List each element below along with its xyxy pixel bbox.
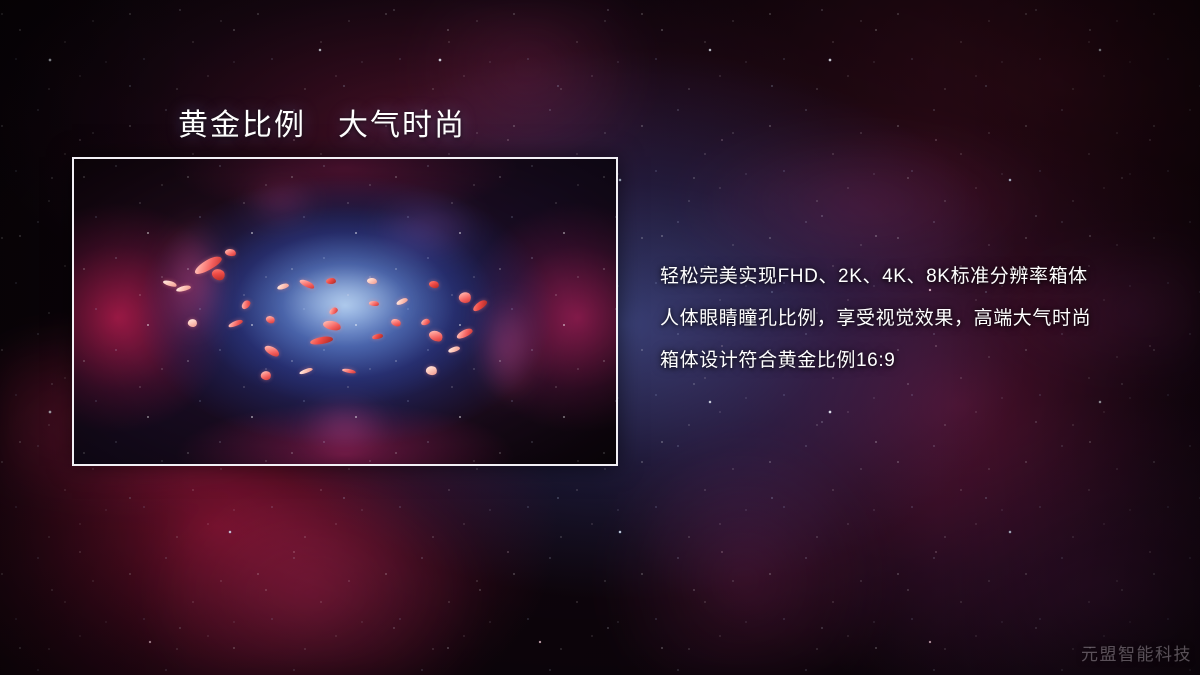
petal-3 [163, 279, 178, 288]
petal-30 [455, 327, 474, 340]
inner-nebula-filaments [74, 159, 616, 464]
petal-13 [366, 277, 377, 285]
petal-4 [176, 284, 192, 292]
petal-10 [277, 283, 290, 291]
petal-11 [298, 278, 315, 291]
petal-18 [260, 370, 272, 381]
petal-8 [228, 318, 244, 327]
petal-7 [187, 318, 199, 329]
petal-1 [193, 253, 224, 276]
petal-19 [299, 367, 314, 375]
petal-2 [210, 266, 227, 282]
petal-16 [309, 336, 332, 346]
body-line-2: 人体眼睛瞳孔比例，享受视觉效果，高端大气时尚 [660, 298, 1160, 340]
inner-starfield-icon [74, 159, 616, 464]
petal-29 [428, 328, 445, 343]
petal-23 [390, 317, 402, 328]
petal-15 [322, 318, 342, 332]
petal-22 [372, 333, 383, 339]
petal-24 [396, 297, 409, 306]
body-text-block: 轻松完美实现FHD、2K、4K、8K标准分辨率箱体 人体眼睛瞳孔比例，享受视觉效… [660, 256, 1160, 382]
petal-6 [240, 298, 253, 310]
presentation-slide: 黄金比例 大气时尚 轻松完美实现FHD、2K、4K、8K标准分辨率箱体 人体眼睛… [0, 0, 1200, 675]
petal-26 [420, 318, 430, 326]
petal-14 [328, 307, 338, 316]
body-line-3: 箱体设计符合黄金比例16:9 [660, 340, 1160, 382]
slide-title: 黄金比例 大气时尚 [178, 100, 466, 144]
petal-20 [342, 368, 357, 375]
petal-21 [369, 300, 380, 306]
framed-image [72, 157, 618, 466]
petal-32 [448, 345, 461, 353]
watermark-label: 元盟智能科技 [1081, 640, 1192, 665]
petal-9 [265, 314, 276, 324]
petal-25 [428, 280, 440, 290]
petal-12 [326, 278, 336, 284]
inner-nebula-background [74, 159, 616, 464]
petal-28 [472, 299, 490, 314]
petal-27 [457, 290, 472, 305]
inner-vignette [74, 159, 616, 464]
petal-31 [425, 365, 438, 377]
petal-5 [224, 248, 236, 257]
petal-17 [263, 343, 281, 359]
body-line-1: 轻松完美实现FHD、2K、4K、8K标准分辨率箱体 [660, 256, 1160, 298]
